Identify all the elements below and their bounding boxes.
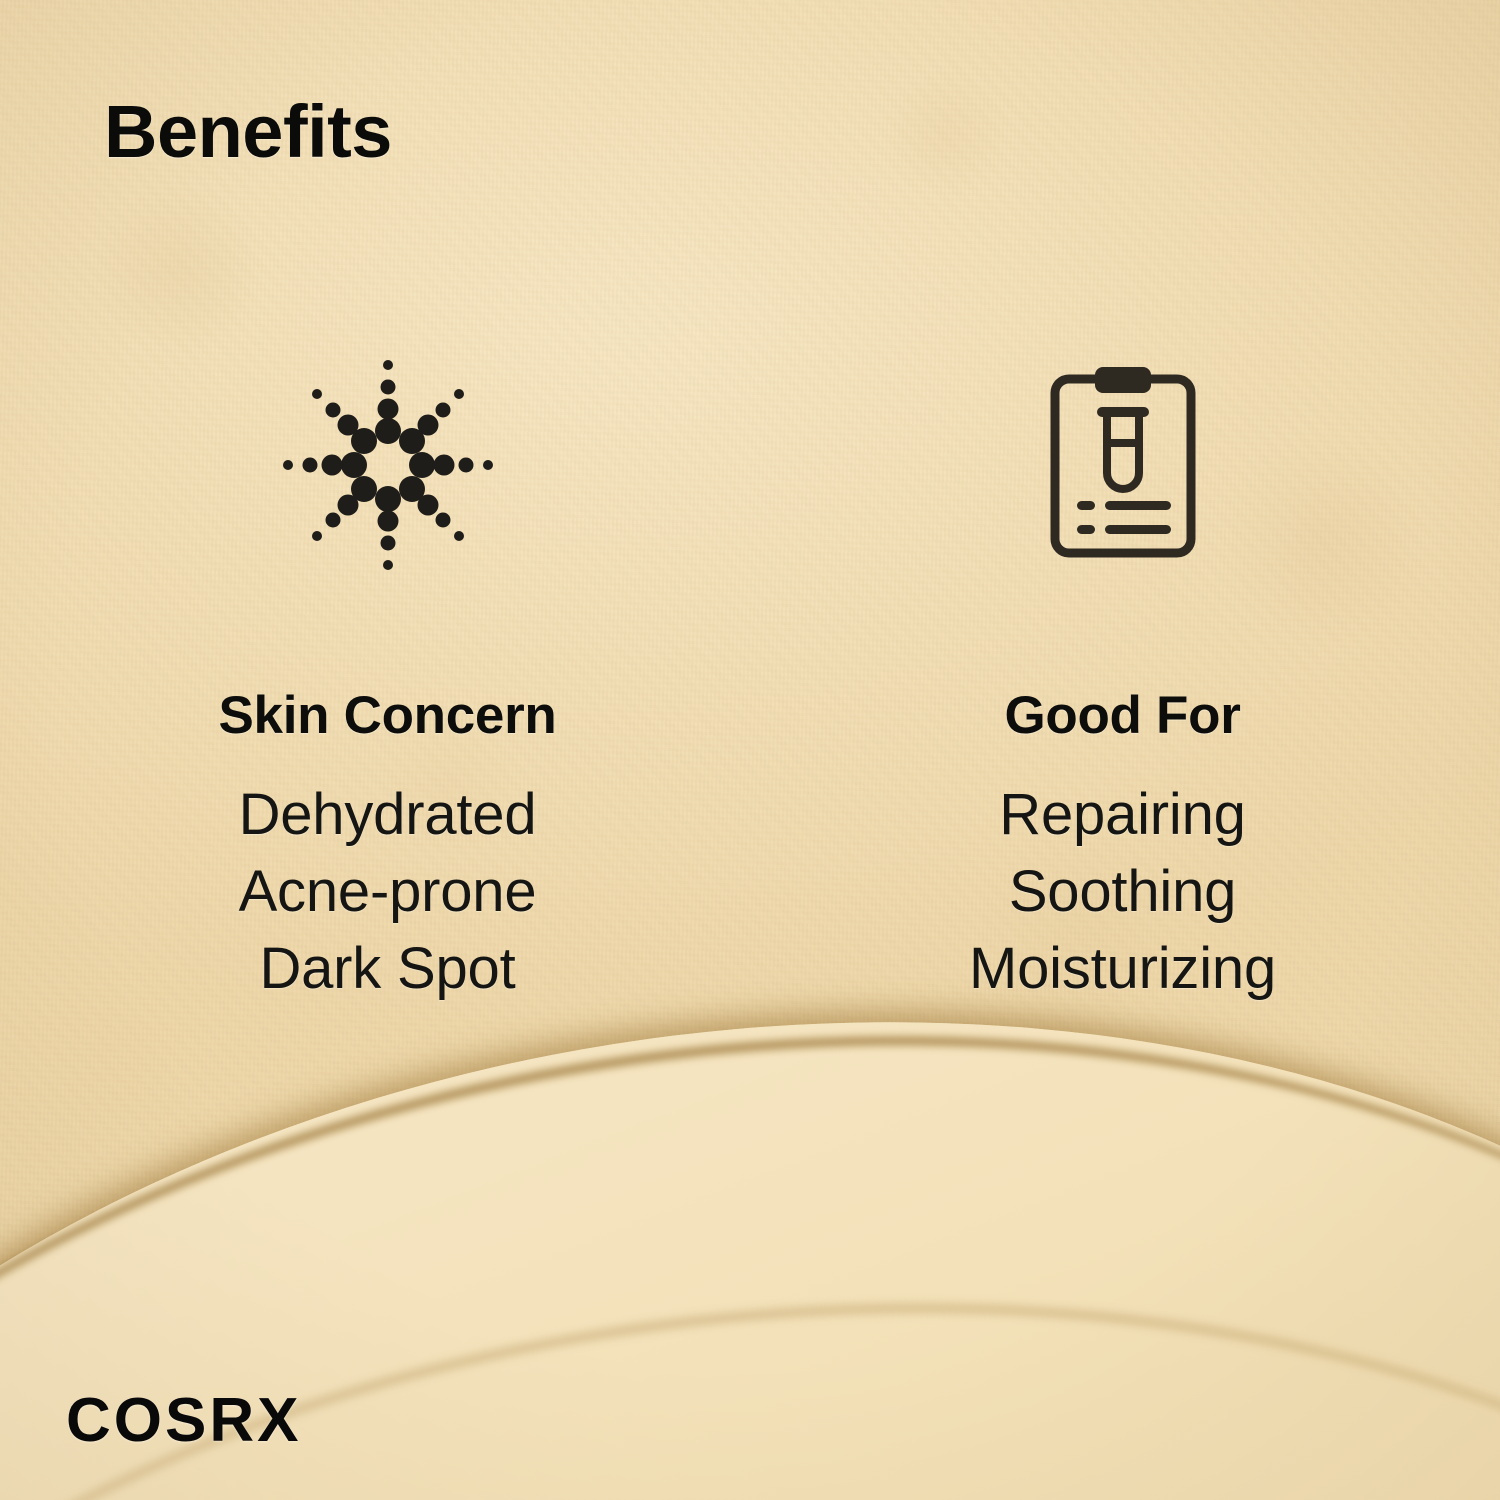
infographic-canvas: Benefits xyxy=(0,0,1500,1500)
page-title: Benefits xyxy=(104,95,392,169)
list-item: Dark Spot xyxy=(259,930,515,1007)
column-heading-skin-concern: Skin Concern xyxy=(218,685,556,746)
list-item: Acne-prone xyxy=(239,853,537,930)
item-list-skin-concern: Dehydrated Acne-prone Dark Spot xyxy=(239,776,537,1007)
icon-container-skin-concern xyxy=(273,340,503,590)
list-item: Moisturizing xyxy=(969,930,1276,1007)
list-item: Soothing xyxy=(1009,853,1236,930)
benefit-column-good-for: Good For Repairing Soothing Moisturizing xyxy=(755,340,1490,1007)
list-item: Repairing xyxy=(999,776,1245,853)
list-item: Dehydrated xyxy=(239,776,537,853)
benefit-column-skin-concern: Skin Concern Dehydrated Acne-prone Dark … xyxy=(20,340,755,1007)
column-heading-good-for: Good For xyxy=(1004,685,1240,746)
clipboard-test-tube-icon xyxy=(1043,365,1203,565)
icon-container-good-for xyxy=(1043,340,1203,590)
brand-logo: COSRX xyxy=(66,1385,301,1456)
benefits-columns: Skin Concern Dehydrated Acne-prone Dark … xyxy=(0,340,1500,1007)
starburst-dots-icon xyxy=(273,350,503,580)
item-list-good-for: Repairing Soothing Moisturizing xyxy=(969,776,1276,1007)
content-layer: Benefits xyxy=(0,0,1500,1500)
